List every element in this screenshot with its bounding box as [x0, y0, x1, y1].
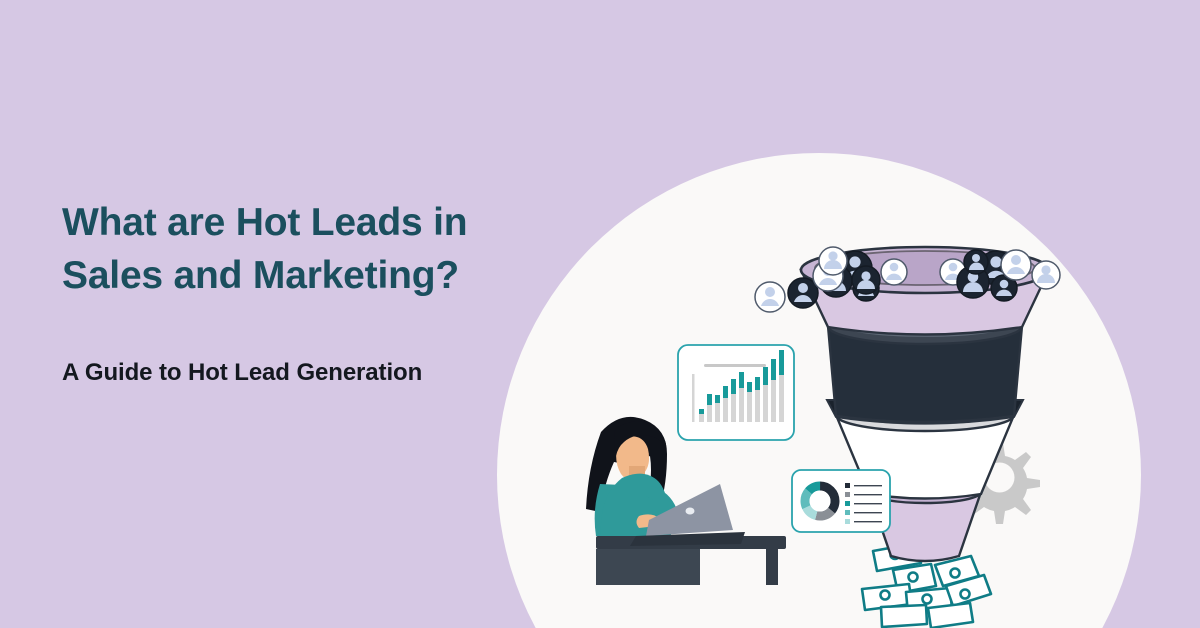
banknote-icon: [881, 605, 927, 627]
page-title-line-1: What are Hot Leads in: [62, 201, 467, 244]
avatar-lead-icon: [1001, 250, 1031, 280]
page-title: What are Hot Leads in Sales and Marketin…: [62, 196, 492, 302]
avatar-lead-icon: [755, 282, 785, 312]
avatar-lead-icon: [819, 247, 847, 275]
donut-chart: [805, 486, 835, 516]
avatar-lead-icon: [788, 278, 818, 308]
text-block: What are Hot Leads in Sales and Marketin…: [62, 196, 492, 388]
page-title-line-2: Sales and Marketing?: [62, 254, 459, 297]
avatar-lead-icon: [964, 250, 988, 274]
card-title-rule: [704, 364, 766, 367]
growth-bar-card: [678, 345, 794, 440]
woman-at-laptop: [586, 417, 786, 585]
avatar-lead-icon: [881, 259, 907, 285]
avatar-lead-icon: [1032, 261, 1060, 289]
page-subtitle: A Guide to Hot Lead Generation: [62, 302, 492, 388]
banner-root: What are Hot Leads in Sales and Marketin…: [0, 0, 1200, 628]
banknote-icon: [928, 603, 973, 628]
chart-y-axis: [692, 374, 695, 422]
donut-stats-card: [792, 470, 890, 532]
avatar-lead-icon: [852, 266, 880, 294]
